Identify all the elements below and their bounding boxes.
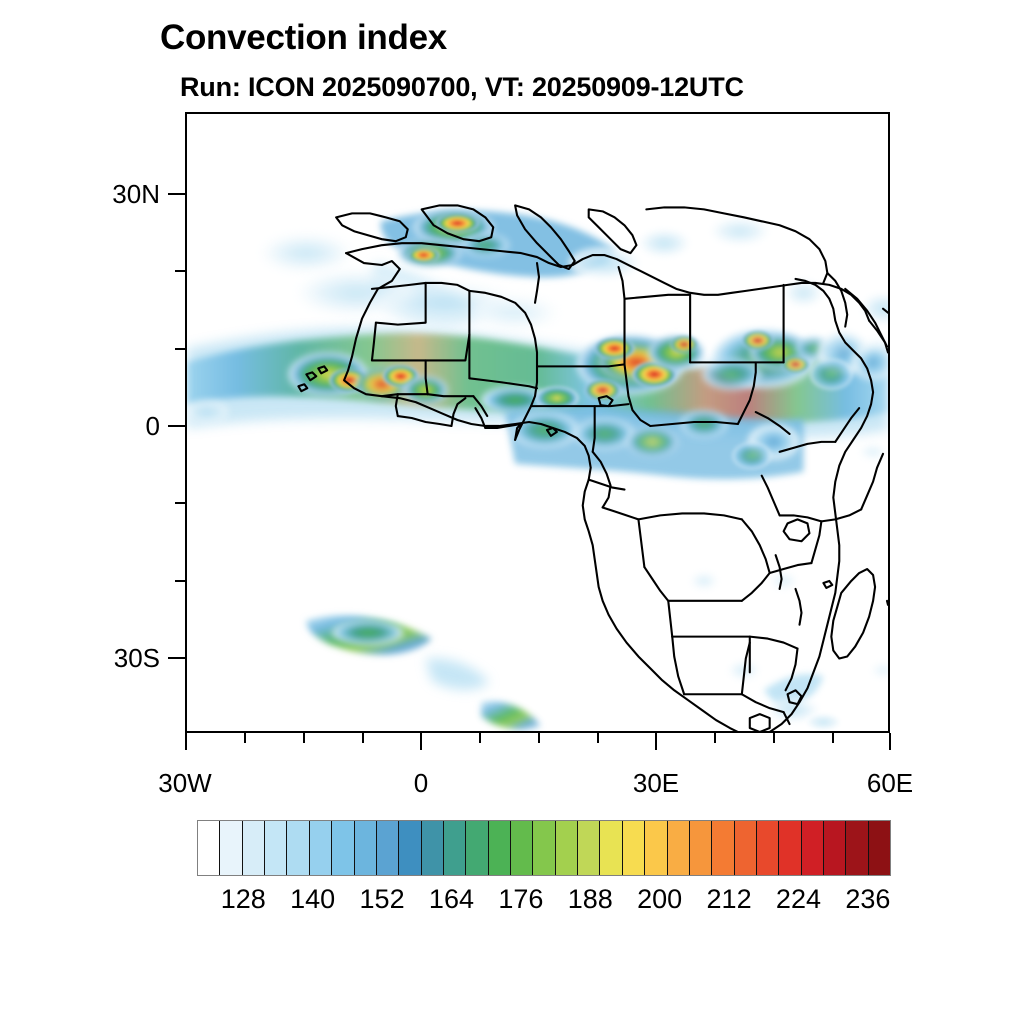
- colorbar-cell: [243, 821, 265, 875]
- x-minor-tick-45e: [773, 733, 775, 743]
- colorbar-cell: [578, 821, 600, 875]
- colorbar-tick-label: 200: [637, 884, 682, 915]
- x-tick-label-30w: 30W: [125, 768, 245, 799]
- y-tick-label-30s: 30S: [60, 643, 160, 674]
- colorbar-cell: [712, 821, 734, 875]
- colorbar-tick-label: 236: [845, 884, 890, 915]
- y-minor-tick-15n: [175, 270, 185, 272]
- colorbar-cell: [556, 821, 578, 875]
- colorbar-cell: [444, 821, 466, 875]
- y-tick-label-30n: 30N: [60, 179, 160, 210]
- colorbar-cell: [690, 821, 712, 875]
- colorbar-cell: [735, 821, 757, 875]
- colorbar-cell: [600, 821, 622, 875]
- x-minor-tick-52e: [832, 733, 834, 743]
- page-title: Convection index: [160, 18, 447, 58]
- x-minor-tick-8e: [479, 733, 481, 743]
- colorbar-cell: [377, 821, 399, 875]
- x-minor-tick-22e: [597, 733, 599, 743]
- colorbar-cell: [869, 821, 890, 875]
- y-minor-tick-5n: [175, 348, 185, 350]
- colorbar-cell: [668, 821, 690, 875]
- map-plot-area: [185, 112, 890, 733]
- colorbar-cell: [287, 821, 309, 875]
- colorbar-cell: [511, 821, 533, 875]
- colorbar-cell: [533, 821, 555, 875]
- colorbar-cell: [220, 821, 242, 875]
- run-valid-time-subtitle: Run: ICON 2025090700, VT: 20250909-12UTC: [180, 72, 744, 103]
- colorbar-cell: [422, 821, 444, 875]
- x-major-tick-60e: [889, 733, 891, 750]
- y-minor-tick-25s: [175, 580, 185, 582]
- x-minor-tick-15e: [538, 733, 540, 743]
- colorbar-cell: [310, 821, 332, 875]
- colorbar-tick-label: 188: [568, 884, 613, 915]
- x-major-tick-30e: [655, 733, 657, 750]
- colorbar-cell: [802, 821, 824, 875]
- x-minor-tick-15w: [303, 733, 305, 743]
- y-major-tick-0: [168, 425, 185, 427]
- convection-index-figure: Convection index Run: ICON 2025090700, V…: [0, 0, 1024, 1024]
- x-tick-label-60e: 60E: [830, 768, 950, 799]
- colorbar-cell: [355, 821, 377, 875]
- y-major-tick-30s: [168, 657, 185, 659]
- colorbar-cell: [265, 821, 287, 875]
- colorbar-cell: [623, 821, 645, 875]
- colorbar-tick-label: 140: [290, 884, 335, 915]
- colorbar-cell: [332, 821, 354, 875]
- colorbar-cell: [645, 821, 667, 875]
- colorbar-tick-label: 224: [776, 884, 821, 915]
- colorbar-cell: [466, 821, 488, 875]
- colorbar-tick-label: 128: [221, 884, 266, 915]
- colorbar-tick-label: 164: [429, 884, 474, 915]
- x-tick-label-30e: 30E: [596, 768, 716, 799]
- x-major-tick-30w: [185, 733, 187, 750]
- y-minor-tick-15s: [175, 502, 185, 504]
- x-tick-label-0: 0: [361, 768, 481, 799]
- colorbar-cell: [198, 821, 220, 875]
- colorbar-tick-labels: 128140152164176188200212224236: [197, 884, 891, 918]
- colorbar-cell: [757, 821, 779, 875]
- colorbar-cell: [399, 821, 421, 875]
- y-tick-label-0: 0: [60, 411, 160, 442]
- x-minor-tick-38e: [714, 733, 716, 743]
- colorbar-cell: [779, 821, 801, 875]
- colorbar: [197, 820, 891, 876]
- colorbar-tick-label: 212: [707, 884, 752, 915]
- y-major-tick-30n: [168, 193, 185, 195]
- colorbar-tick-label: 152: [360, 884, 405, 915]
- africa-convection-map: [187, 114, 888, 731]
- x-minor-tick-7w: [362, 733, 364, 743]
- colorbar-tick-label: 176: [498, 884, 543, 915]
- x-major-tick-0: [420, 733, 422, 750]
- colorbar-cell: [846, 821, 868, 875]
- colorbar-cell: [824, 821, 846, 875]
- colorbar-cell: [489, 821, 511, 875]
- x-minor-tick-22w: [244, 733, 246, 743]
